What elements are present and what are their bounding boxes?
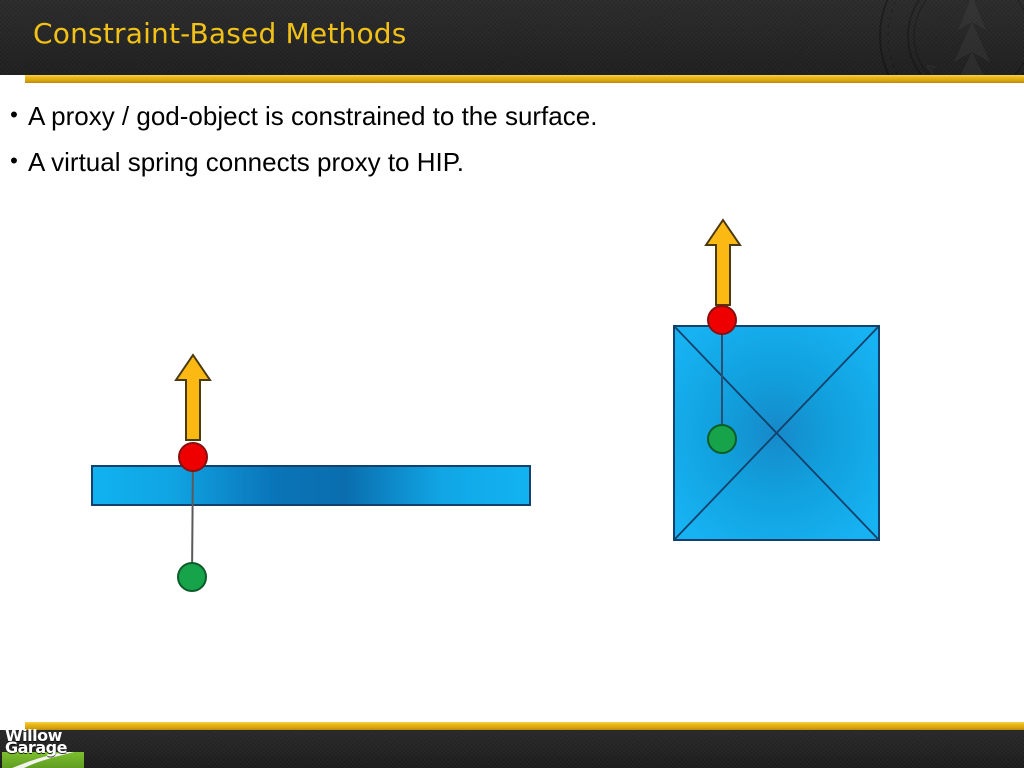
hip-point-marker bbox=[708, 306, 736, 334]
page-title: Constraint-Based Methods bbox=[33, 17, 407, 50]
hip-point-marker bbox=[179, 443, 207, 471]
box-diagonal-2 bbox=[674, 326, 879, 540]
box-diagonal-1 bbox=[674, 326, 879, 540]
bullet-text: A proxy / god-object is constrained to t… bbox=[28, 100, 597, 132]
proxy-point-marker bbox=[178, 563, 206, 591]
header-accent-rule bbox=[25, 75, 1024, 83]
virtual-spring-line bbox=[192, 457, 193, 577]
bullet-text: A virtual spring connects proxy to HIP. bbox=[28, 146, 464, 178]
seal-emblem-watermark: ND SLA LUM DER bbox=[872, 0, 1024, 75]
svg-text:ND SLA: ND SLA bbox=[902, 61, 941, 75]
bullet-list: • A proxy / god-object is constrained to… bbox=[0, 100, 900, 192]
list-item: • A proxy / god-object is constrained to… bbox=[0, 100, 900, 134]
proxy-point-marker bbox=[708, 425, 736, 453]
right-diagram-group bbox=[674, 220, 879, 540]
slide-header: ND SLA LUM DER Constraint-Based Methods bbox=[0, 0, 1024, 75]
willow-garage-logo: Willow Garage bbox=[2, 726, 84, 768]
left-diagram-group bbox=[92, 355, 530, 591]
bullet-marker-icon: • bbox=[0, 100, 28, 130]
list-item: • A virtual spring connects proxy to HIP… bbox=[0, 146, 900, 180]
bullet-marker-icon: • bbox=[0, 146, 28, 176]
surface-plane-bar bbox=[92, 466, 530, 505]
surface-box-square bbox=[674, 326, 879, 540]
force-arrow-up-icon bbox=[706, 220, 740, 305]
logo-line-2: Garage bbox=[5, 738, 67, 757]
force-arrow-up-icon bbox=[176, 355, 210, 440]
footer-accent-rule bbox=[25, 722, 1024, 730]
slide-footer bbox=[0, 730, 1024, 768]
